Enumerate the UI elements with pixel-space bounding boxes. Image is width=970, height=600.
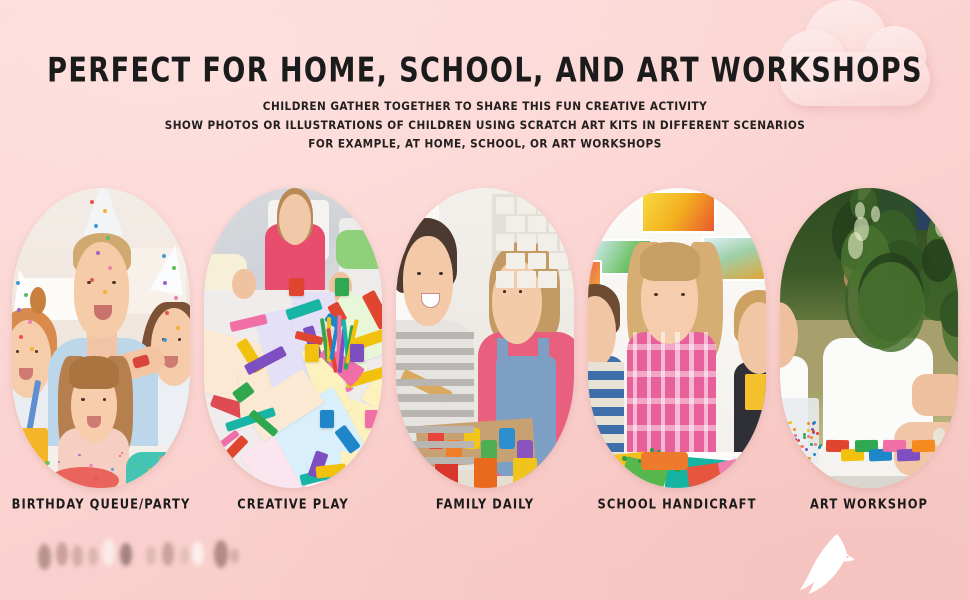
dove-icon — [790, 528, 870, 600]
blurred-dots-decoration — [34, 536, 244, 584]
photo-creative-play — [204, 188, 382, 488]
photo-frame-art-workshop[interactable] — [780, 188, 958, 488]
photo-birthday-party — [12, 188, 190, 488]
photo-cell: SCHOOL HANDICRAFT — [588, 188, 766, 488]
photo-frame-creative-play[interactable] — [204, 188, 382, 488]
subtitle-block: CHILDREN GATHER TOGETHER TO SHARE THIS F… — [0, 98, 970, 154]
photo-cell: FAMILY DAILY — [396, 188, 574, 488]
subtitle-line-1: CHILDREN GATHER TOGETHER TO SHARE THIS F… — [0, 98, 970, 117]
subtitle-line-3: FOR EXAMPLE, AT HOME, SCHOOL, OR ART WOR… — [0, 136, 970, 155]
photo-strip: BIRTHDAY QUEUE/PARTY CREATIVE PLAY — [12, 188, 958, 488]
panel-caption: ART WORKSHOP — [756, 496, 970, 512]
photo-school-handicraft — [588, 188, 766, 488]
subtitle-line-2: SHOW PHOTOS OR ILLUSTRATIONS OF CHILDREN… — [0, 117, 970, 136]
page-title: PERFECT FOR HOME, SCHOOL, AND ART WORKSH… — [15, 52, 956, 89]
photo-frame-school-handicraft[interactable] — [588, 188, 766, 488]
photo-cell: BIRTHDAY QUEUE/PARTY — [12, 188, 190, 488]
photo-frame-birthday[interactable] — [12, 188, 190, 488]
photo-cell: ART WORKSHOP — [780, 188, 958, 488]
photo-art-workshop — [780, 188, 958, 488]
photo-cell: CREATIVE PLAY — [204, 188, 382, 488]
photo-family-daily — [396, 188, 574, 488]
photo-frame-family-daily[interactable] — [396, 188, 574, 488]
promotional-banner: PERFECT FOR HOME, SCHOOL, AND ART WORKSH… — [0, 0, 970, 600]
headline-block: PERFECT FOR HOME, SCHOOL, AND ART WORKSH… — [0, 52, 970, 149]
